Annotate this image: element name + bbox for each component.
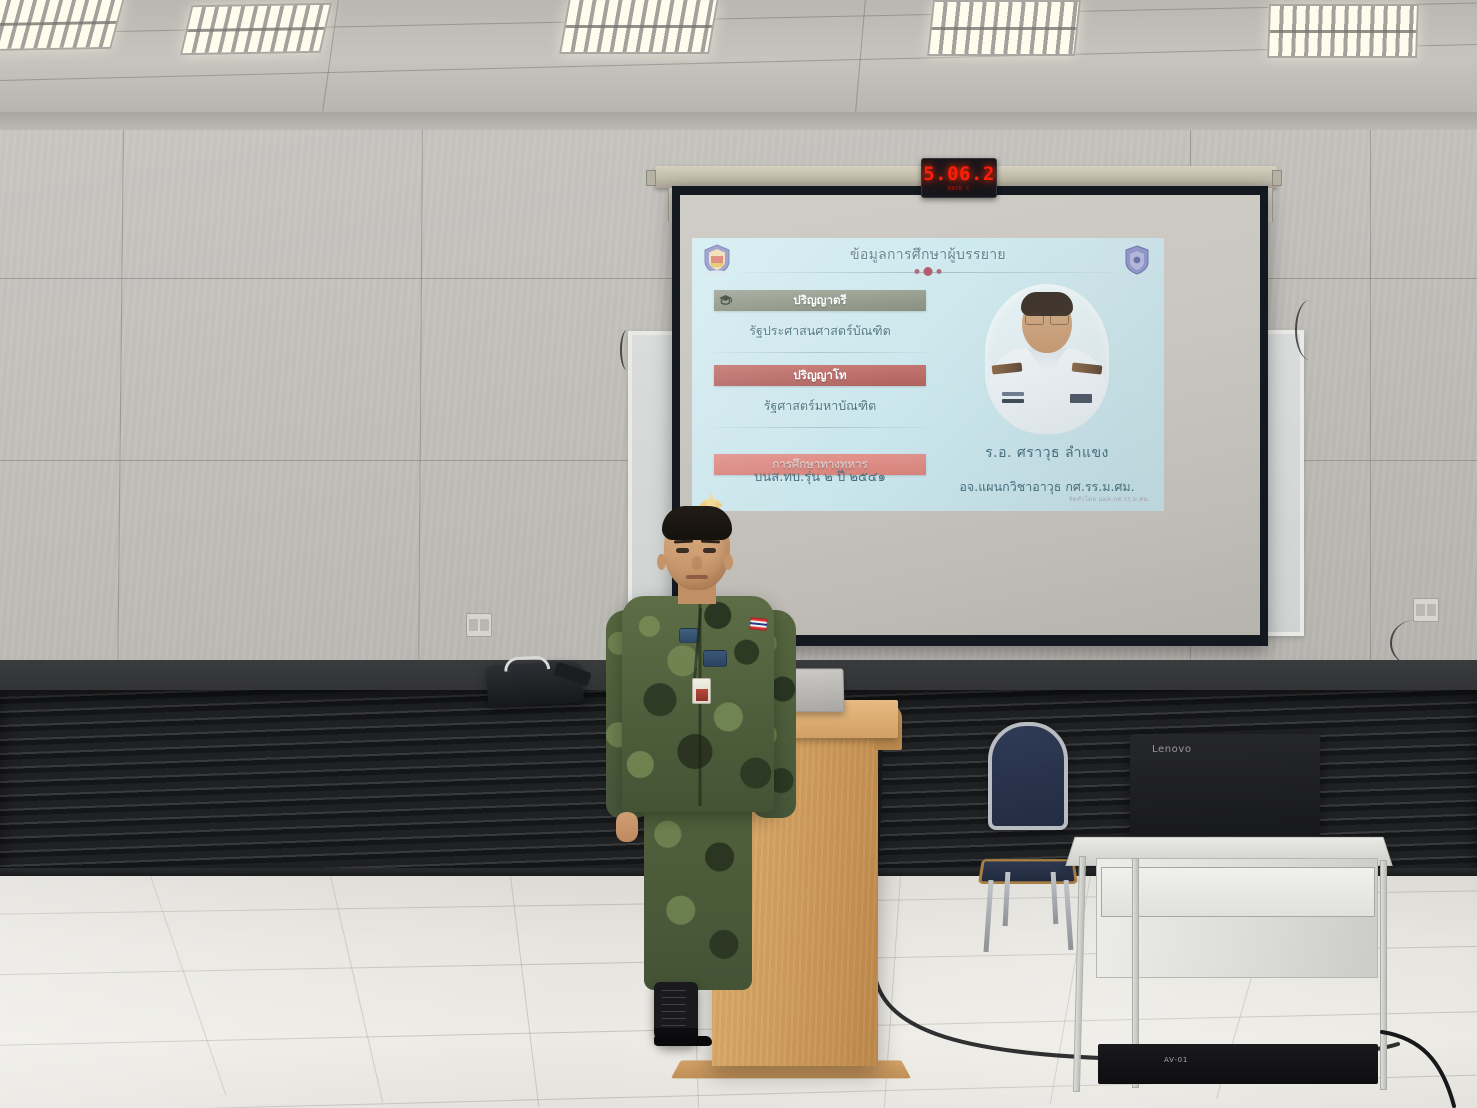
bachelor-degree-value: รัฐประศาสนศาสตร์บัณฑิต <box>714 321 926 341</box>
speaker-profile: ร.อ. ศราวุธ ลำแขง อจ.แผนกวิชาอาวุธ กศ.รร… <box>944 284 1150 497</box>
boot-laces <box>662 990 686 1032</box>
wall-cable <box>1295 300 1325 360</box>
wall-cable <box>620 330 634 370</box>
combat-boot <box>654 982 698 1046</box>
divider-dots <box>915 267 942 276</box>
banquet-chair-back[interactable] <box>988 722 1068 830</box>
clock-sub-label: DATE C <box>948 187 970 192</box>
eye <box>676 548 689 553</box>
desktop-monitor: Lenovo <box>1130 734 1320 840</box>
graduation-cap-icon <box>718 293 733 308</box>
presentation-slide: ข้อมูลการศึกษาผู้บรรยาย <box>692 238 1164 511</box>
bachelor-badge: ปริญญาตรี <box>714 290 926 311</box>
av-cart-drawer[interactable] <box>1101 867 1375 917</box>
military-course-value: บนส.ทบ.รุ่น ๒ ปี ๒๕๔๑ <box>714 466 926 487</box>
portrait-ribbon <box>1002 399 1024 403</box>
master-degree-value: รัฐศาสตร์มหาบัณฑิต <box>714 396 926 416</box>
ceiling-light-icon <box>180 3 332 55</box>
ceiling-light-icon <box>0 0 126 51</box>
eye <box>703 548 716 553</box>
slide-watermark: จัดทำโดย นผค.กศ.รร.ม.ศม. <box>1069 494 1150 504</box>
dot-large <box>924 267 933 276</box>
portrait-epaulet <box>992 362 1023 374</box>
casing-end-cap <box>1272 170 1282 186</box>
portrait-uniform <box>988 348 1106 434</box>
portrait-ribbon <box>1002 392 1024 396</box>
ear <box>657 554 666 570</box>
legs <box>644 800 752 990</box>
id-badge <box>692 678 711 704</box>
speaker-name: ร.อ. ศราวุธ ลำแขง <box>944 442 1150 464</box>
dot <box>937 269 942 274</box>
master-badge: ปริญญาโท <box>714 365 926 386</box>
education-list: ปริญญาตรี รัฐประศาสนศาสตร์บัณฑิต ปริญญาโ… <box>714 290 926 475</box>
unit-patch-icon <box>703 650 727 667</box>
master-badge-label: ปริญญาโท <box>793 368 846 382</box>
ceiling-light-icon <box>1267 4 1419 58</box>
ceiling-light-icon <box>559 0 719 54</box>
left-hand <box>616 812 638 842</box>
thai-flag-patch-icon <box>749 617 767 631</box>
portrait-nameplate <box>1070 394 1092 403</box>
monitor-brand-label: Lenovo <box>1152 744 1192 755</box>
wall-outlet <box>466 613 492 637</box>
equipment-bag <box>486 661 584 708</box>
mouth <box>686 575 708 579</box>
slide-title: ข้อมูลการศึกษาผู้บรรยาย <box>692 244 1164 266</box>
bag-handle <box>504 655 551 671</box>
casing-end-cap <box>646 170 656 186</box>
portrait-epaulet <box>1072 362 1103 374</box>
ceiling-light-icon <box>927 0 1081 56</box>
glasses-icon <box>1025 312 1069 321</box>
hair <box>662 506 732 540</box>
nose <box>692 556 702 570</box>
ear <box>724 554 733 570</box>
presenting-officer <box>600 500 800 1060</box>
speaker-portrait <box>985 284 1109 434</box>
dot <box>915 269 920 274</box>
led-wall-clock: 15.06.24 DATE C <box>921 158 997 198</box>
shelf-label: AV-01 <box>1164 1056 1188 1064</box>
wall-outlet <box>1413 598 1439 622</box>
lecture-hall-photo: ข้อมูลการศึกษาผู้บรรยาย <box>0 0 1477 1108</box>
cart-frame-post <box>1380 860 1387 1090</box>
av-cart-lower-shelf <box>1098 1044 1378 1084</box>
bachelor-badge-label: ปริญญาตรี <box>793 293 846 307</box>
clock-time: 15.06.24 <box>921 165 997 184</box>
